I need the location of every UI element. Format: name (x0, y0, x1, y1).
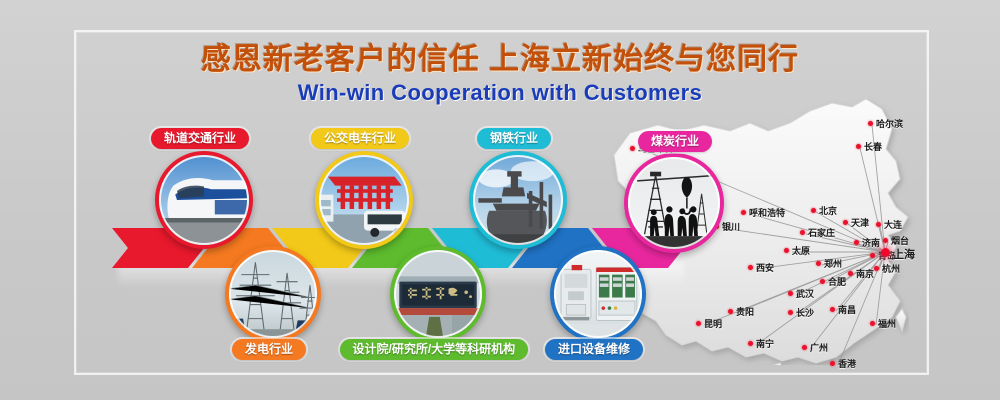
headline-english: Win-win Cooperation with Customers (0, 80, 1000, 106)
industry-label-pill[interactable]: 钢铁行业 (477, 128, 551, 149)
map-city-label: 济南 (862, 236, 880, 249)
industry-bubble[interactable] (550, 246, 646, 342)
map-city-label: 石家庄 (808, 226, 835, 239)
map-city-dot (816, 261, 821, 266)
bubble-inner-ring (473, 155, 563, 245)
map-city-dot (748, 265, 753, 270)
map-hub-dot (881, 248, 890, 257)
headline-block: 感恩新老客户的信任 上海立新始终与您同行 Win-win Cooperation… (0, 44, 1000, 106)
map-city-label: 南昌 (838, 303, 856, 316)
map-city-dot (741, 210, 746, 215)
map-city-dot (830, 307, 835, 312)
industry-bubble[interactable] (469, 151, 567, 249)
map-city-label: 上海 (893, 246, 915, 262)
map-city-dot (883, 238, 888, 243)
map-city-label: 杭州 (882, 262, 900, 275)
map-city-label: 北京 (819, 204, 837, 217)
map-city-label: 福州 (878, 317, 896, 330)
map-city-label: 天津 (851, 216, 869, 229)
map-city-dot (800, 230, 805, 235)
industry-label-pill[interactable]: 煤炭行业 (638, 131, 712, 152)
map-city-dot (868, 121, 873, 126)
map-city-dot (820, 279, 825, 284)
map-city-label: 长沙 (796, 306, 814, 319)
industry-label-pill[interactable]: 进口设备维修 (545, 339, 643, 360)
map-city-label: 昆明 (704, 317, 722, 330)
map-city-label: 广州 (810, 341, 828, 354)
bubble-inner-ring (319, 155, 409, 245)
map-city-label: 郑州 (824, 257, 842, 270)
map-city-label: 长春 (864, 140, 882, 153)
map-city-dot (748, 341, 753, 346)
map-city-dot (630, 146, 635, 151)
map-city-label: 南宁 (756, 337, 774, 350)
map-city-dot (848, 271, 853, 276)
map-city-label: 西安 (756, 261, 774, 274)
map-city-dot (784, 248, 789, 253)
map-city-label: 银川 (722, 220, 740, 233)
map-city-label: 太原 (792, 244, 810, 257)
map-city-label: 合肥 (828, 275, 846, 288)
industry-bubble[interactable] (225, 246, 321, 342)
map-city-dot (830, 361, 835, 366)
map-city-label: 呼和浩特 (749, 206, 785, 219)
headline-chinese: 感恩新老客户的信任 上海立新始终与您同行 (0, 44, 1000, 76)
map-city-dot (788, 291, 793, 296)
map-city-dot (870, 321, 875, 326)
industry-bubble[interactable] (155, 151, 253, 249)
map-city-dot (870, 253, 875, 258)
map-city-dot (696, 321, 701, 326)
map-city-label: 南京 (856, 267, 874, 280)
industry-bubble[interactable] (390, 246, 486, 342)
map-city-dot (856, 144, 861, 149)
map-city-label: 武汉 (796, 287, 814, 300)
map-city-dot (802, 345, 807, 350)
banner-root: 哈尔滨长春乌鲁木齐呼和浩特北京天津大连银川石家庄济南烟台太原青岛西安郑州合肥南京… (0, 0, 1000, 400)
map-city-dot (843, 220, 848, 225)
bubble-inner-ring (394, 250, 482, 338)
map-city-label: 哈尔滨 (876, 117, 903, 130)
map-city-dot (874, 266, 879, 271)
map-city-label: 大连 (884, 218, 902, 231)
map-city-label: 贵阳 (736, 305, 754, 318)
bubble-inner-ring (159, 155, 249, 245)
map-city-label: 香港 (838, 357, 856, 370)
industry-label-pill[interactable]: 发电行业 (232, 339, 306, 360)
industry-bubble[interactable] (624, 153, 724, 253)
industry-label-pill[interactable]: 设计院/研究所/大学等科研机构 (340, 339, 529, 360)
map-city-dot (788, 310, 793, 315)
map-city-dot (728, 309, 733, 314)
bubble-inner-ring (554, 250, 642, 338)
bubble-inner-ring (628, 157, 720, 249)
industry-label-pill[interactable]: 公交电车行业 (311, 128, 409, 149)
map-city-dot (811, 208, 816, 213)
bubble-inner-ring (229, 250, 317, 338)
map-city-dot (854, 240, 859, 245)
industry-bubble[interactable] (315, 151, 413, 249)
map-city-dot (876, 222, 881, 227)
industry-label-pill[interactable]: 轨道交通行业 (151, 128, 249, 149)
